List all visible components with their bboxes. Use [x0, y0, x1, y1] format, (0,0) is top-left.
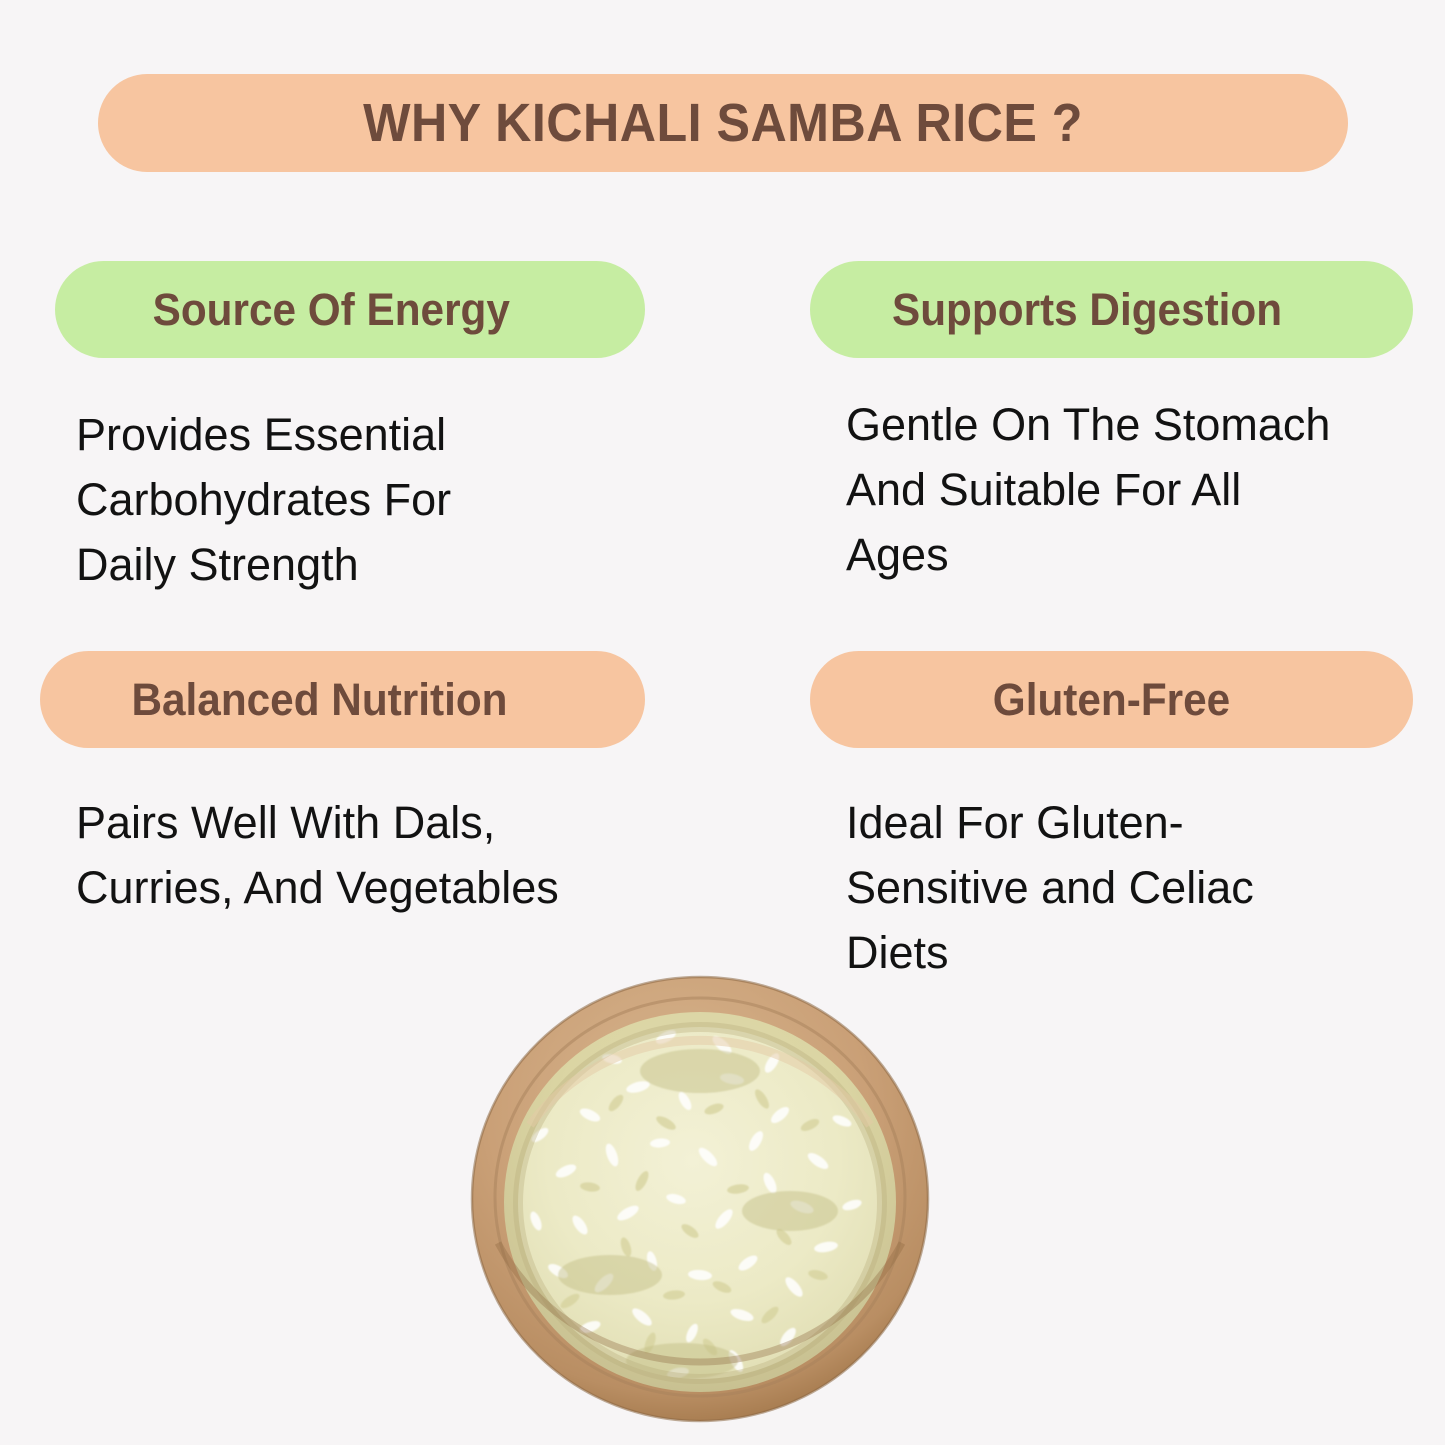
- feature-label-gluten-free: Gluten-Free: [828, 674, 1395, 726]
- feature-pill-gluten-free: Gluten-Free: [810, 651, 1413, 748]
- page-title-banner: WHY KICHALI SAMBA RICE ?: [98, 74, 1348, 172]
- feature-description-gluten-free: Ideal For Gluten- Sensitive and Celiac D…: [846, 790, 1406, 985]
- feature-pill-balanced-nutrition: Balanced Nutrition: [40, 651, 645, 748]
- infographic-page: WHY KICHALI SAMBA RICE ? Source Of Energ…: [0, 0, 1445, 1445]
- feature-label-supports-digestion: Supports Digestion: [828, 284, 1395, 336]
- page-title: WHY KICHALI SAMBA RICE ?: [363, 92, 1083, 154]
- feature-description-source-of-energy: Provides Essential Carbohydrates For Dai…: [76, 402, 636, 597]
- feature-pill-supports-digestion: Supports Digestion: [810, 261, 1413, 358]
- rice-bowl-image: [470, 975, 930, 1423]
- feature-description-supports-digestion: Gentle On The Stomach And Suitable For A…: [846, 392, 1406, 587]
- feature-description-balanced-nutrition: Pairs Well With Dals, Curries, And Veget…: [76, 790, 676, 920]
- feature-label-balanced-nutrition: Balanced Nutrition: [58, 674, 627, 726]
- feature-label-source-of-energy: Source Of Energy: [73, 284, 628, 336]
- rice-bowl-illustration: [470, 975, 930, 1423]
- feature-pill-source-of-energy: Source Of Energy: [55, 261, 645, 358]
